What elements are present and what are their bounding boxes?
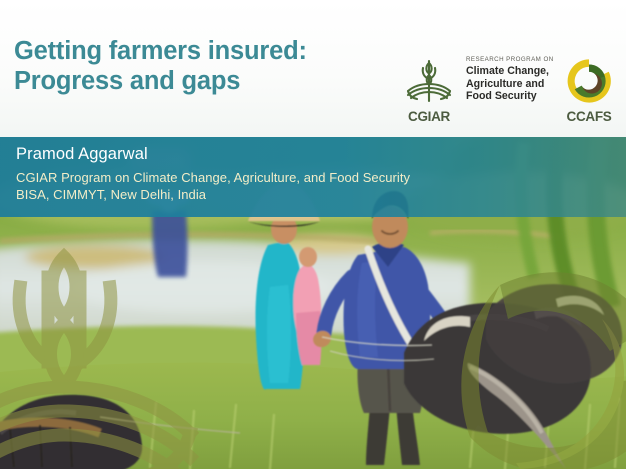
presentation-slide: Getting farmers insured: Progress and ga… [0,0,626,469]
cgiar-wheat-icon [404,58,454,104]
page-title: Getting farmers insured: Progress and ga… [14,36,404,96]
program-name: Climate Change, Agriculture and Food Sec… [466,65,552,103]
ccafs-logo: CCAFS [558,58,620,124]
cgiar-wordmark: CGIAR [398,109,460,124]
cgiar-logo: CGIAR [398,58,460,124]
program-kicker: RESEARCH PROGRAM ON [466,56,552,63]
slide-header: Getting farmers insured: Progress and ga… [0,0,626,137]
author-band: Pramod Aggarwal CGIAR Program on Climate… [0,137,626,217]
author-affiliation: CGIAR Program on Climate Change, Agricul… [16,170,410,203]
ccafs-wordmark: CCAFS [558,109,620,124]
program-text-block: RESEARCH PROGRAM ON Climate Change, Agri… [466,56,552,103]
ccafs-swirl-icon [566,58,612,104]
author-name: Pramod Aggarwal [16,145,148,164]
logo-lockup: CGIAR RESEARCH PROGRAM ON Climate Change… [398,56,620,128]
